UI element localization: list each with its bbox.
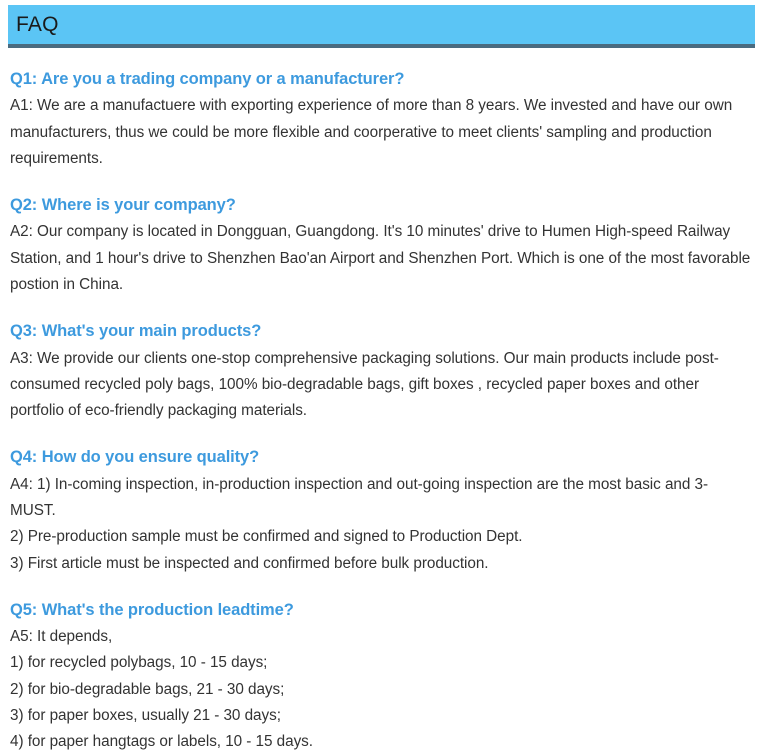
- faq-item: Q2: Where is your company?A2: Our compan…: [10, 194, 751, 298]
- faq-answer-line: 1) for recycled polybags, 10 - 15 days;: [10, 650, 751, 676]
- faq-answer-line: A5: It depends,: [10, 624, 751, 650]
- faq-list: Q1: Are you a trading company or a manuf…: [0, 68, 765, 756]
- faq-answer-line: A4: 1) In-coming inspection, in-producti…: [10, 472, 751, 525]
- faq-answer-line: 4) for paper hangtags or labels, 10 - 15…: [10, 729, 751, 755]
- faq-answer-line: A1: We are a manufactuere with exporting…: [10, 93, 751, 172]
- faq-question: Q5: What's the production leadtime?: [10, 599, 751, 621]
- faq-answer-line: 2) Pre-production sample must be confirm…: [10, 524, 751, 550]
- faq-answer: A3: We provide our clients one-stop comp…: [10, 346, 751, 425]
- faq-item: Q1: Are you a trading company or a manuf…: [10, 68, 751, 172]
- faq-answer: A5: It depends,1) for recycled polybags,…: [10, 624, 751, 755]
- faq-answer: A1: We are a manufactuere with exporting…: [10, 93, 751, 172]
- faq-question: Q1: Are you a trading company or a manuf…: [10, 68, 751, 90]
- faq-question: Q2: Where is your company?: [10, 194, 751, 216]
- page-title: FAQ: [8, 14, 59, 35]
- faq-item: Q3: What's your main products?A3: We pro…: [10, 320, 751, 424]
- faq-answer: A2: Our company is located in Dongguan, …: [10, 219, 751, 298]
- faq-item: Q5: What's the production leadtime?A5: I…: [10, 599, 751, 756]
- faq-answer-line: 3) First article must be inspected and c…: [10, 551, 751, 577]
- faq-answer-line: A3: We provide our clients one-stop comp…: [10, 346, 751, 425]
- faq-question: Q4: How do you ensure quality?: [10, 446, 751, 468]
- faq-answer-line: 3) for paper boxes, usually 21 - 30 days…: [10, 703, 751, 729]
- faq-answer-line: 2) for bio-degradable bags, 21 - 30 days…: [10, 677, 751, 703]
- faq-answer-line: A2: Our company is located in Dongguan, …: [10, 219, 751, 298]
- faq-page: FAQ Q1: Are you a trading company or a m…: [0, 5, 765, 753]
- faq-header-banner: FAQ: [8, 5, 755, 48]
- faq-item: Q4: How do you ensure quality?A4: 1) In-…: [10, 446, 751, 576]
- faq-answer: A4: 1) In-coming inspection, in-producti…: [10, 472, 751, 577]
- faq-question: Q3: What's your main products?: [10, 320, 751, 342]
